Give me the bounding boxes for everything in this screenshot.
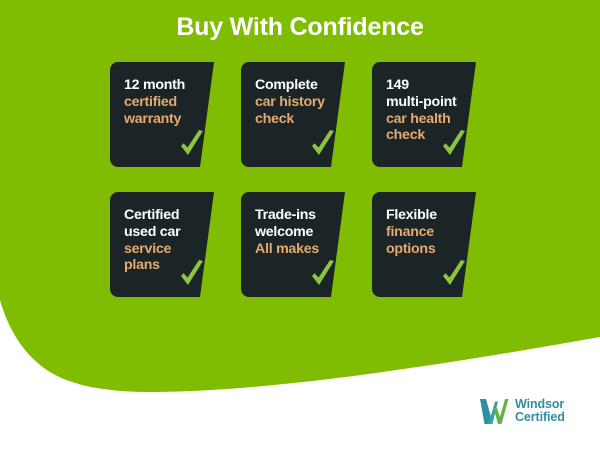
card-line-accent: check: [255, 111, 347, 128]
card-line-white: used car: [124, 224, 216, 241]
card-line-accent: finance: [386, 224, 478, 241]
card-line-white: 149: [386, 77, 478, 94]
card-line-white: 12 month: [124, 77, 216, 94]
check-icon: [310, 260, 336, 290]
banner-content: Buy With Confidence 12 month certified w…: [0, 0, 600, 450]
feature-card: Certified used car service plans: [110, 192, 222, 297]
card-text: Trade-ins welcome All makes: [255, 207, 347, 257]
card-line-white: Trade-ins: [255, 207, 347, 224]
card-line-accent: service: [124, 241, 216, 258]
card-line-white: multi-point: [386, 94, 478, 111]
card-text: Complete car history check: [255, 77, 347, 127]
card-text: Flexible finance options: [386, 207, 478, 257]
card-line-accent: All makes: [255, 241, 347, 258]
card-line-accent: warranty: [124, 111, 216, 128]
card-line-accent: options: [386, 241, 478, 258]
feature-card: 149 multi-point car health check: [372, 62, 484, 167]
check-icon: [310, 130, 336, 160]
check-icon: [179, 130, 205, 160]
logo-line-2: Certified: [515, 411, 565, 424]
logo-text: Windsor Certified: [515, 398, 565, 424]
card-line-accent: car health: [386, 111, 478, 128]
feature-card: Trade-ins welcome All makes: [241, 192, 353, 297]
feature-card: Complete car history check: [241, 62, 353, 167]
page-title: Buy With Confidence: [0, 13, 600, 42]
card-text: 12 month certified warranty: [124, 77, 216, 127]
check-icon: [441, 260, 467, 290]
windsor-w-icon: [479, 398, 509, 424]
card-line-accent: certified: [124, 94, 216, 111]
card-line-white: welcome: [255, 224, 347, 241]
feature-card: 12 month certified warranty: [110, 62, 222, 167]
check-icon: [179, 260, 205, 290]
check-icon: [441, 130, 467, 160]
card-line-accent: car history: [255, 94, 347, 111]
card-line-white: Complete: [255, 77, 347, 94]
buy-with-confidence-banner: Buy With Confidence 12 month certified w…: [0, 0, 600, 450]
windsor-certified-logo: Windsor Certified: [479, 398, 565, 424]
card-line-white: Certified: [124, 207, 216, 224]
feature-card: Flexible finance options: [372, 192, 484, 297]
card-line-white: Flexible: [386, 207, 478, 224]
